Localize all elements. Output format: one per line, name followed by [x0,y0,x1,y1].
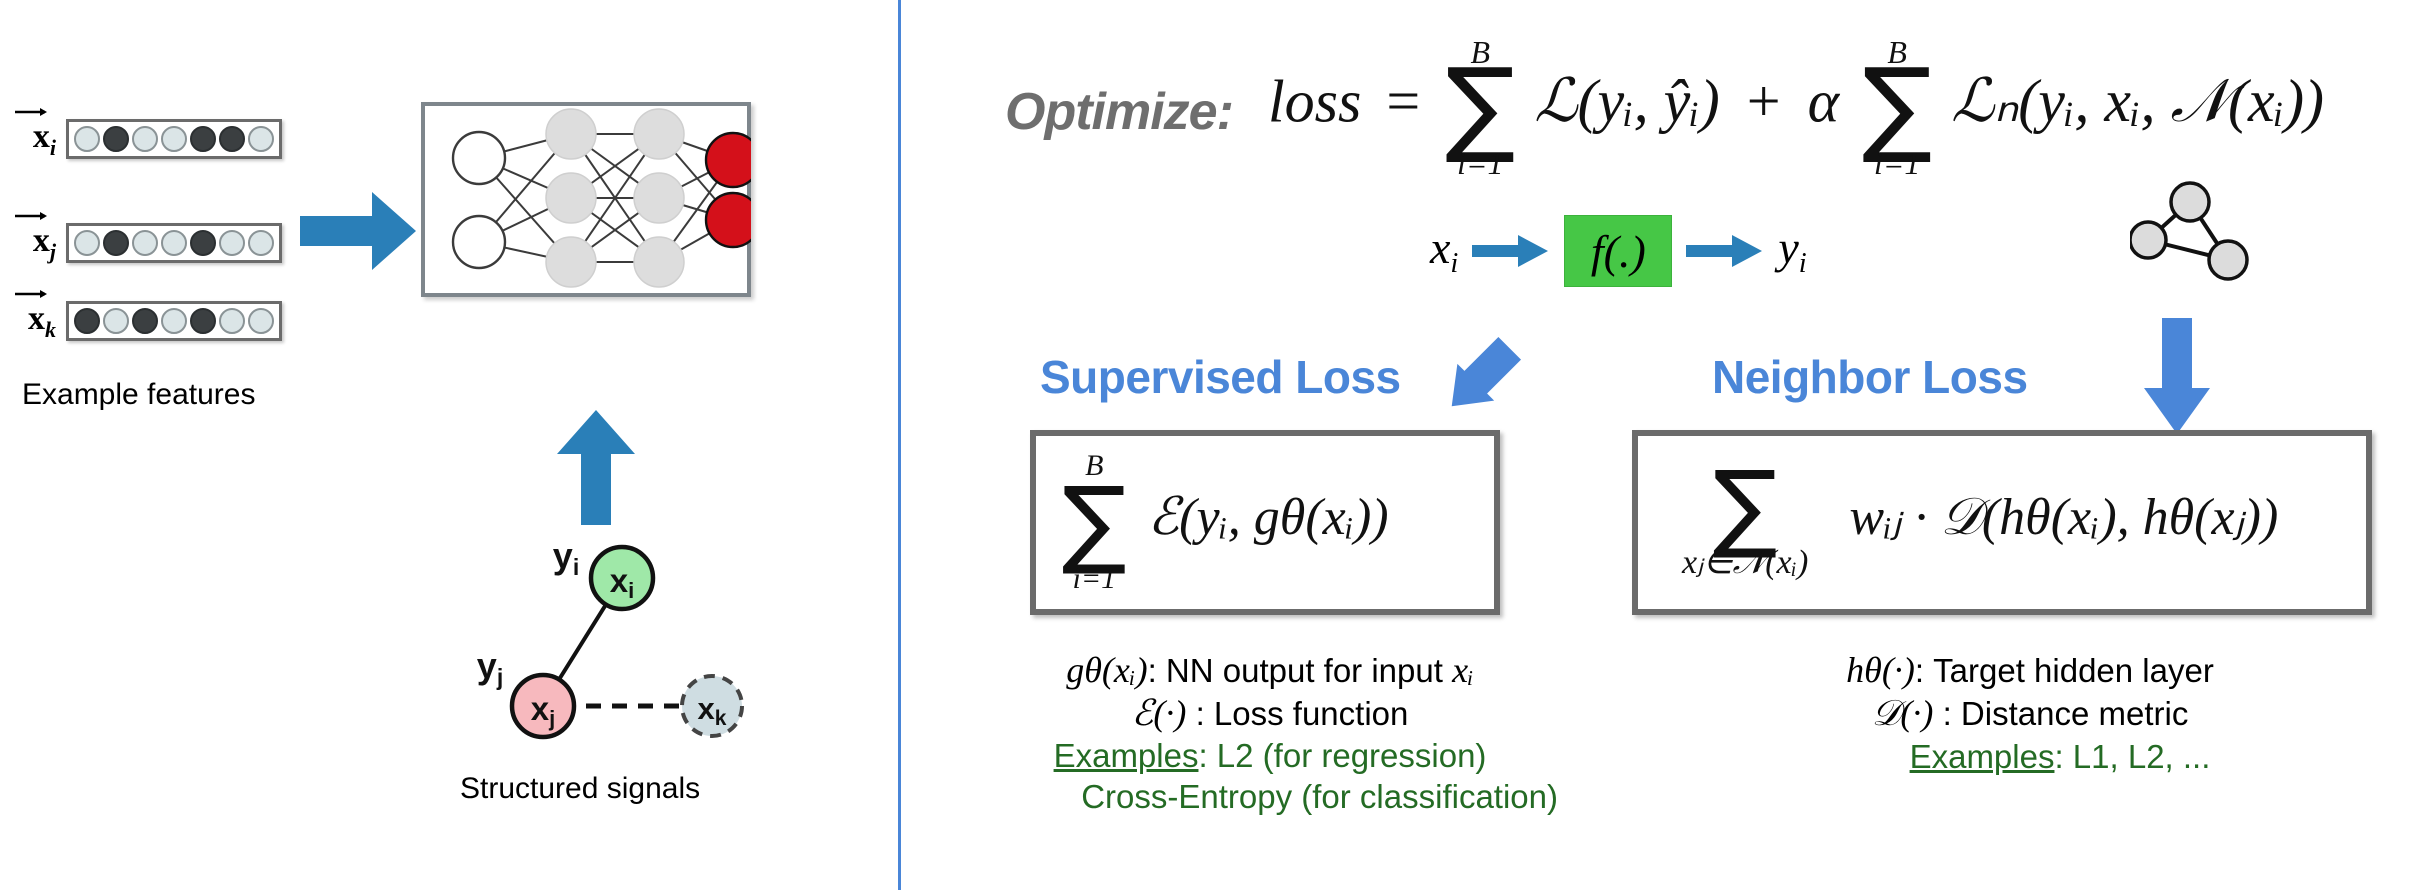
neighbor-sum-sigma: ∑ [1713,465,1778,548]
feature-bit [190,308,216,334]
nn-hidden-layer-2 [634,109,684,287]
supervised-examples-line-1: : L2 (for regression) [1198,737,1486,774]
neighbor-legend-text-2: Distance metric [1961,695,2188,732]
feature-bit [190,230,216,256]
supervised-legend-sep-2: : [1196,695,1205,732]
nn-input-node [453,132,505,184]
neighbor-legend-sep-2: : [1943,695,1952,732]
vector-arrow-icon [14,105,48,117]
neighbor-sum: ∑ xⱼ∈𝒩(xᵢ) [1682,465,1808,580]
pipeline-input-label: xi [1430,221,1458,280]
nn-output-node [706,133,751,187]
feature-bit [103,308,129,334]
supervised-legend: gθ(xᵢ): NN output for input xᵢ ℰ(·) : Lo… [960,648,1580,819]
feature-bit [161,230,187,256]
feature-vector-row-k: xk [12,300,282,343]
feature-bits-k [66,301,282,341]
neural-network-graph [421,102,751,297]
triangle-node [2209,241,2247,279]
nn-hidden-node [634,173,684,223]
supervised-legend-sep-1: : [1148,652,1157,689]
feature-bit [219,126,245,152]
neighbor-legend-symbol-1: hθ(·) [1846,650,1915,690]
supervised-legend-text-2: Loss function [1214,695,1408,732]
neighbor-legend-sep-1: : [1915,652,1924,689]
sum1-sigma: ∑ [1445,62,1515,151]
supervised-examples-row-1: Examples: L2 (for regression) [960,737,1580,775]
feature-vector-label-k: xk [12,300,56,343]
nn-hidden-layer-1 [546,109,596,287]
feature-bit [161,126,187,152]
sum2-sigma: ∑ [1862,62,1932,151]
pipeline-arrow-in-icon [1472,234,1550,268]
function-pipeline: xi f(.) yi [1430,215,1807,287]
formula-sum-2: B ∑ i=1 [1862,36,1932,179]
feature-bit [219,230,245,256]
supervised-legend-symbol-2: ℰ(·) [1132,693,1187,733]
vec-sub-j: j [50,239,56,264]
nn-input-layer [453,132,505,268]
vec-base-i: x [33,118,50,155]
nn-input-node [453,216,505,268]
feature-vector-row-j: xj [12,222,282,265]
feature-bit [74,308,100,334]
nn-output-layer [706,133,751,247]
vec-sub-k: k [45,317,56,342]
nn-hidden-node [546,109,596,159]
structured-signals-graph: xi yi xj yj xk [470,520,770,750]
pipeline-output-base: y [1778,222,1798,273]
neighbor-legend-row-1: hθ(·): Target hidden layer [1700,649,2360,691]
triangle-node [2171,183,2209,221]
example-features-caption: Example features [22,378,255,412]
neighbor-legend: hθ(·): Target hidden layer 𝒟(·) : Distan… [1700,648,2360,779]
function-box: f(.) [1564,215,1672,287]
structured-signals-caption: Structured signals [460,772,700,806]
nn-hidden-node [634,237,684,287]
formula-sum-1: B ∑ i=1 [1445,36,1515,179]
formula-lhs: loss [1268,68,1361,134]
formula-plus: + [1747,68,1781,134]
neighbor-loss-title: Neighbor Loss [1712,350,2028,404]
supervised-examples-label: Examples [1054,737,1199,774]
nn-hidden-node [546,173,596,223]
pipeline-output-sub: i [1799,249,1807,280]
neighbor-sum-lower: xⱼ∈𝒩(xᵢ) [1682,546,1808,580]
feature-bit [132,126,158,152]
neighbor-legend-text-1: Target hidden layer [1933,652,2214,689]
neighbor-legend-row-2: 𝒟(·) : Distance metric [1700,692,2360,735]
supervised-legend-trailing-1: xᵢ [1452,650,1474,690]
sum2-lower: i=1 [1874,147,1920,179]
neighbor-examples-row-1: Examples: L1, L2, ... [1700,738,2360,776]
supervised-loss-title: Supervised Loss [1040,350,1401,404]
supervised-examples-row-2: Cross-Entropy (for classification) [960,778,1580,816]
supervised-legend-text-1: NN output for input [1166,652,1443,689]
pipeline-input-base: x [1430,222,1450,273]
vec-base-k: x [28,300,45,337]
vector-arrow-icon [14,287,48,299]
feature-bit [248,230,274,256]
feature-bit [103,230,129,256]
feature-bit [248,126,274,152]
panel-divider [898,0,901,890]
neighbor-expression: wᵢⱼ · 𝒟(hθ(xᵢ), hθ(xⱼ)) [1849,489,2278,546]
neighbor-loss-formula: ∑ xⱼ∈𝒩(xᵢ) wᵢⱼ · 𝒟(hθ(xᵢ), hθ(xⱼ)) [1638,465,2278,580]
vector-arrow-icon [14,209,48,221]
vec-base-j: x [33,222,50,259]
feature-bits-j [66,223,282,263]
feature-bit [132,308,158,334]
main-loss-formula: loss = B ∑ i=1 ℒ(yᵢ, ŷᵢ) + α B ∑ i=1 ℒₙ(… [1268,36,2324,179]
graph-node-yj-label: yj [477,645,503,690]
supervised-legend-symbol-1: gθ(xᵢ) [1066,650,1147,690]
nn-hidden-node [546,237,596,287]
pipeline-input-sub: i [1450,249,1458,280]
optimize-label: Optimize: [1005,82,1233,142]
graph-edge-solid [555,598,610,686]
supervised-legend-row-2: ℰ(·) : Loss function [960,692,1580,734]
vec-sub-i: i [50,135,56,160]
formula-equals: = [1386,68,1420,134]
feature-bit [190,126,216,152]
pipeline-output-label: yi [1778,221,1806,280]
structure-arrow-icon [553,408,639,526]
feature-vector-label-j: xj [12,222,56,265]
supervised-sum-lower: i=1 [1073,564,1117,594]
supervised-loss-formula: B ∑ i=1 ℰ(yᵢ, gθ(xᵢ)) [1036,451,1389,594]
neighbor-arrow-icon [2140,318,2214,436]
neighbor-graph-icon [2130,178,2260,288]
feature-bit [248,308,274,334]
feature-bit [103,126,129,152]
triangle-node [2130,222,2166,258]
nn-output-node [706,193,751,247]
supervised-loss-box: B ∑ i=1 ℰ(yᵢ, gθ(xᵢ)) [1030,430,1500,615]
feature-bit [74,230,100,256]
feature-bit [219,308,245,334]
pipeline-arrow-out-icon [1686,234,1764,268]
nn-hidden-node [634,109,684,159]
supervised-expression: ℰ(yᵢ, gθ(xᵢ)) [1148,489,1389,546]
sum1-lower: i=1 [1457,147,1503,179]
neighbor-examples-label: Examples [1910,738,2055,775]
supervised-legend-row-1: gθ(xᵢ): NN output for input xᵢ [960,649,1580,691]
feature-bit [161,308,187,334]
feature-bits-i [66,119,282,159]
graph-node-yi-label: yi [553,535,579,580]
feature-vector-row-i: xi [12,118,282,161]
neighbor-examples-line-1: : L1, L2, ... [2054,738,2210,775]
formula-alpha: α [1808,68,1840,134]
supervised-examples-line-2: Cross-Entropy (for classification) [1081,778,1558,815]
supervised-arrow-icon [1410,318,1550,438]
formula-term-2: ℒₙ(yᵢ, xᵢ, 𝒩(xᵢ)) [1951,68,2324,134]
supervised-sum: B ∑ i=1 [1062,451,1127,594]
feature-bit [132,230,158,256]
neighbor-legend-symbol-2: 𝒟(·) [1872,693,1934,733]
input-arrow-icon [300,188,418,274]
supervised-sum-sigma: ∑ [1062,481,1127,564]
neighbor-loss-box: ∑ xⱼ∈𝒩(xᵢ) wᵢⱼ · 𝒟(hθ(xᵢ), hθ(xⱼ)) [1632,430,2372,615]
feature-vector-label-i: xi [12,118,56,161]
formula-term-1: ℒ(yᵢ, ŷᵢ) [1534,68,1719,134]
feature-bit [74,126,100,152]
